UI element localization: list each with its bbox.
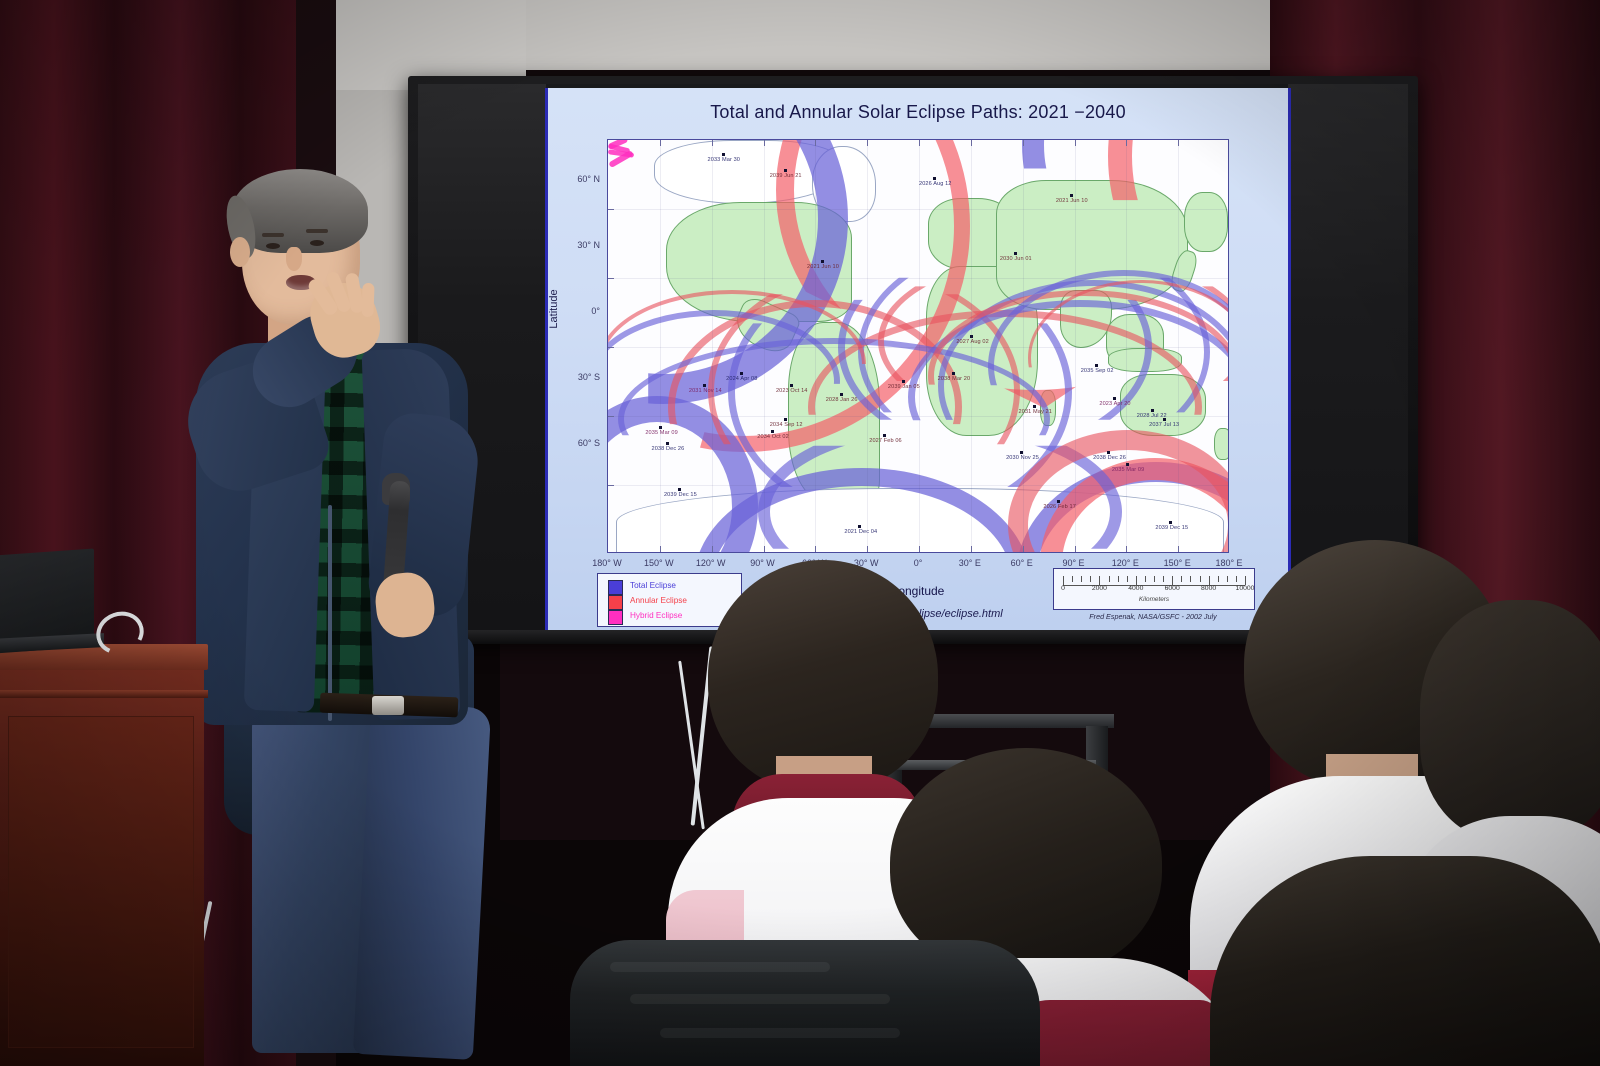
upper-wall (500, 0, 1400, 70)
eclipse-date-label-1: 2039 Jun 21 (770, 173, 802, 179)
eclipse-date-label-19: 2035 Mar 09 (645, 430, 678, 436)
graticule-parallel-2 (608, 278, 1228, 279)
eclipse-date-label-13: 2035 Sep 02 (1081, 368, 1114, 374)
eclipse-date-label-2: 2026 Aug 12 (919, 181, 952, 187)
graticule-top-tick-1 (660, 140, 661, 146)
graticule-left-tick-4 (608, 416, 614, 417)
eclipse-point-marker-27 (678, 488, 681, 491)
eclipse-point-marker-1 (784, 169, 787, 172)
lat-tick-3: 30° S (554, 372, 600, 382)
lat-tick-1: 30° N (554, 240, 600, 250)
graticule-top-tick-2 (712, 140, 713, 146)
graticule-top-tick-6 (919, 140, 920, 146)
eclipse-point-marker-23 (1163, 418, 1166, 421)
graticule-bottom-tick-7 (971, 546, 972, 552)
scale-tick-3 (1090, 576, 1091, 582)
lon-tick-0: 180° W (581, 558, 633, 568)
graticule-parallel-1 (608, 209, 1228, 210)
graticule-bottom-tick-8 (1023, 546, 1024, 552)
scale-tick-7 (1127, 576, 1128, 582)
lat-tick-0: 60° N (554, 174, 600, 184)
scale-tick-18 (1227, 576, 1228, 582)
eclipse-date-label-25: 2035 Mar 09 (1112, 467, 1145, 473)
scale-number-3: 6000 (1165, 585, 1180, 592)
scale-tick-14 (1190, 576, 1191, 582)
lat-tick-2: 0° (554, 306, 600, 316)
graticule-top-tick-10 (1126, 140, 1127, 146)
scale-tick-4 (1099, 576, 1100, 585)
lecture-hall-scene: Total and Annular Solar Eclipse Paths: 2… (0, 0, 1600, 1066)
legend-swatch-0 (608, 580, 623, 595)
legend-label-0: Total Eclipse (630, 581, 676, 590)
eclipse-date-label-17: 2034 Oct 02 (757, 434, 789, 440)
graticule-meridian-11 (1178, 140, 1179, 552)
eclipse-point-marker-14 (1113, 397, 1116, 400)
graticule-meridian-10 (1126, 140, 1127, 552)
legend-label-1: Annular Eclipse (630, 596, 687, 605)
graticule-meridian-8 (1023, 140, 1024, 552)
scale-tick-6 (1118, 576, 1119, 582)
graticule-parallel-5 (608, 485, 1228, 486)
graticule-meridian-7 (971, 140, 972, 552)
eye-left (266, 243, 280, 249)
lat-tick-4: 60° S (554, 438, 600, 448)
eclipse-point-marker-17 (771, 430, 774, 433)
graticule-bottom-tick-5 (867, 546, 868, 552)
graticule-parallel-4 (608, 416, 1228, 417)
eclipse-date-label-28: 2039 Dec 15 (1155, 525, 1188, 531)
graticule-meridian-5 (867, 140, 868, 552)
graticule-top-tick-5 (867, 140, 868, 146)
eclipse-date-label-4: 2030 Jun 01 (1000, 256, 1032, 262)
graticule-bottom-tick-3 (764, 546, 765, 552)
eye-right (310, 240, 324, 246)
eclipse-date-label-16: 2034 Sep 12 (770, 422, 803, 428)
scale-unit-label: Kilometers (1054, 596, 1254, 603)
lon-tick-1: 150° W (633, 558, 685, 568)
eclipse-point-marker-6 (740, 372, 743, 375)
scale-tick-12 (1172, 576, 1173, 585)
graticule-meridian-6 (919, 140, 920, 552)
graticule-parallel-3 (608, 347, 1228, 348)
graticule-meridian-2 (712, 140, 713, 552)
graticule-top-tick-4 (815, 140, 816, 146)
legend-swatch-2 (608, 610, 623, 625)
slide-title: Total and Annular Solar Eclipse Paths: 2… (548, 102, 1288, 123)
lon-tick-10: 120° E (1099, 558, 1151, 568)
graticule-top-tick-7 (971, 140, 972, 146)
eclipse-point-marker-5 (821, 260, 824, 263)
eclipse-point-marker-13 (1095, 364, 1098, 367)
graticule-top-tick-3 (764, 140, 765, 146)
eyebrow-left (262, 233, 284, 237)
eclipse-point-marker-2 (933, 177, 936, 180)
scale-tick-16 (1209, 576, 1210, 585)
eyebrow-right (306, 229, 328, 233)
eclipse-point-marker-9 (902, 380, 905, 383)
graticule-meridian-9 (1075, 140, 1076, 552)
eclipse-date-label-6: 2024 Apr 08 (726, 376, 757, 382)
scale-tick-8 (1136, 576, 1137, 585)
legend-label-2: Hybrid Eclipse (630, 611, 682, 620)
scale-number-1: 2000 (1092, 585, 1107, 592)
eclipse-point-marker-12 (952, 372, 955, 375)
eclipse-point-marker-22 (1151, 409, 1154, 412)
eclipse-date-label-20: 2038 Dec 26 (652, 446, 685, 452)
eclipse-date-label-7: 2023 Oct 14 (776, 388, 808, 394)
eclipse-point-marker-18 (883, 434, 886, 437)
graticule-bottom-tick-9 (1075, 546, 1076, 552)
jacket-zipper (328, 505, 332, 721)
lon-tick-11: 150° E (1151, 558, 1203, 568)
scale-tick-11 (1163, 576, 1164, 582)
graticule-left-tick-1 (608, 209, 614, 210)
eclipse-date-label-9: 2039 Jan 05 (888, 384, 920, 390)
scale-number-4: 8000 (1201, 585, 1216, 592)
scale-tick-15 (1200, 576, 1201, 582)
scale-tick-5 (1109, 576, 1110, 582)
scale-tick-9 (1145, 576, 1146, 582)
eclipse-point-marker-16 (784, 418, 787, 421)
eclipse-world-map: 2033 Mar 302039 Jun 212026 Aug 122021 Ju… (607, 139, 1229, 553)
eclipse-date-label-11: 2027 Aug 02 (956, 339, 989, 345)
graticule-left-tick-2 (608, 278, 614, 279)
graticule-meridian-1 (660, 140, 661, 552)
scale-tick-2 (1081, 576, 1082, 582)
graticule-bottom-tick-1 (660, 546, 661, 552)
graticule-bottom-tick-4 (815, 546, 816, 552)
head (1420, 600, 1600, 840)
presentation-slide: Total and Annular Solar Eclipse Paths: 2… (545, 88, 1291, 630)
eclipse-point-marker-15 (1033, 405, 1036, 408)
finger-4 (361, 283, 374, 317)
graticule-left-tick-3 (608, 347, 614, 348)
scale-tick-17 (1218, 576, 1219, 582)
eclipse-point-marker-28 (1169, 521, 1172, 524)
leg-left (252, 705, 370, 1053)
eclipse-point-marker-20 (666, 442, 669, 445)
lectern-trim (0, 690, 208, 698)
graticule-bottom-tick-6 (919, 546, 920, 552)
eclipse-point-marker-29 (858, 525, 861, 528)
graticule-meridian-4 (815, 140, 816, 552)
graticule-left-tick-5 (608, 485, 614, 486)
graticule-top-tick-9 (1075, 140, 1076, 146)
scale-bar: 0200040006000800010000 Kilometers (1053, 568, 1255, 610)
ear (230, 237, 250, 267)
eclipse-point-marker-10 (703, 384, 706, 387)
eclipse-date-label-26: 2026 Feb 17 (1043, 504, 1076, 510)
eclipse-date-label-24: 2038 Dec 26 (1093, 455, 1126, 461)
eclipse-date-label-10: 2031 Nov 14 (689, 388, 722, 394)
belt-buckle (372, 696, 404, 715)
eclipse-point-marker-26 (1057, 500, 1060, 503)
nose (286, 247, 302, 271)
lectern-front-panel (8, 716, 194, 1048)
graticule-top-tick-11 (1178, 140, 1179, 146)
black-puffer-jacket (570, 940, 1040, 1066)
eclipse-point-marker-8 (840, 393, 843, 396)
eclipse-date-label-8: 2028 Jan 26 (826, 397, 858, 403)
eclipse-date-label-29: 2021 Dec 04 (844, 529, 877, 535)
scale-tick-13 (1181, 576, 1182, 582)
eclipse-point-marker-24 (1107, 451, 1110, 454)
eclipse-date-label-3: 2021 Jun 10 (1056, 198, 1088, 204)
scale-number-0: 0 (1061, 585, 1065, 592)
graticule-bottom-tick-10 (1126, 546, 1127, 552)
eclipse-date-label-12: 2038 Mar 20 (938, 376, 971, 382)
new-zealand (1214, 428, 1229, 460)
graticule-top-tick-8 (1023, 140, 1024, 146)
scale-tick-10 (1154, 576, 1155, 582)
eclipse-date-label-5: 2021 Jun 10 (807, 264, 839, 270)
eclipse-date-label-27: 2039 Dec 15 (664, 492, 697, 498)
graticule-bottom-tick-2 (712, 546, 713, 552)
graticule-bottom-tick-11 (1178, 546, 1179, 552)
scale-tick-1 (1072, 576, 1073, 582)
eclipse-date-label-18: 2027 Feb 06 (869, 438, 902, 444)
eclipse-point-marker-0 (722, 153, 725, 156)
legend-swatch-1 (608, 595, 623, 610)
eclipse-point-marker-3 (1070, 194, 1073, 197)
eclipse-point-marker-7 (790, 384, 793, 387)
scale-tick-0 (1063, 576, 1064, 585)
map-credit: Fred Espenak, NASA/GSFC - 2002 July (1046, 612, 1260, 621)
scale-number-2: 4000 (1128, 585, 1143, 592)
eclipse-point-marker-4 (1014, 252, 1017, 255)
eclipse-date-label-23: 2037 Jul 13 (1149, 422, 1179, 428)
graticule-meridian-3 (764, 140, 765, 552)
presenter (190, 165, 550, 1055)
leg-right (353, 702, 491, 1060)
lon-tick-9: 90° E (1048, 558, 1100, 568)
